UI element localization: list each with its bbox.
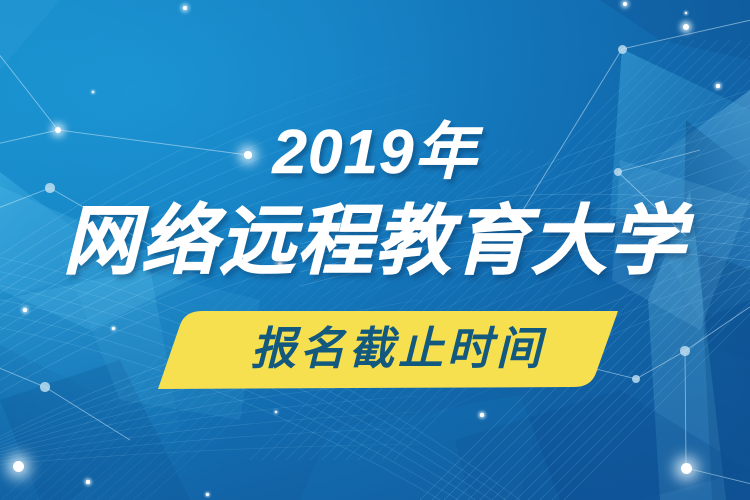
promo-banner: 报名截止时间 2019年 网络远程教育大学 bbox=[0, 0, 750, 500]
ribbon-banner: 报名截止时间 bbox=[124, 309, 620, 389]
ribbon-shape-icon bbox=[124, 309, 620, 389]
page-title-main: 网络远程教育大学 bbox=[0, 196, 750, 288]
headline-group: 2019年 网络远程教育大学 bbox=[0, 0, 750, 500]
page-title-year: 2019年 bbox=[0, 118, 750, 188]
